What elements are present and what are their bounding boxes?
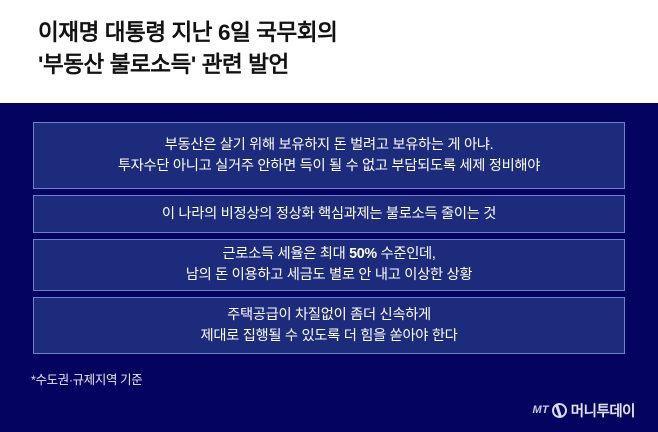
quote-line: 이 나라의 비정상의 정상화 핵심과제는 불로소득 줄이는 것 [162,204,496,225]
infographic-page: 이재명 대통령 지난 6일 국무회의 '부동산 불로소득' 관련 발언 부동산은… [0,0,658,432]
logo-abbreviation: MT [533,404,549,416]
footnote: *수도권·규제지역 기준 [31,370,142,388]
quote-line: 제대로 집행될 수 있도록 더 힘을 쏟아야 한다 [200,326,457,347]
quote-box-4: 주택공급이 차질없이 좀더 신속하게 제대로 집행될 수 있도록 더 힘을 쏟아… [33,297,625,354]
quote-line: 부동산은 살기 위해 보유하지 돈 벌려고 보유하는 게 아냐. [165,135,494,156]
highlight-value: 50% [349,246,377,262]
page-title-line-2: '부동산 불로소득' 관련 발언 [38,49,658,81]
quote-line-highlighted: 근로소득 세율은 최대 50% 수준인데, [222,244,435,265]
quote-line: 주택공급이 차질없이 좀더 신속하게 [227,305,431,326]
moneytoday-logo: MT 머니투데이 [533,400,636,420]
quote-box-1: 부동산은 살기 위해 보유하지 돈 벌려고 보유하는 게 아냐. 투자수단 아니… [33,122,625,189]
moneytoday-circle-icon [550,401,569,420]
logo-wordmark: 머니투데이 [571,400,635,421]
quote-line: 투자수단 아니고 실거주 안하면 득이 될 수 없고 부담되도록 세제 정비해야 [118,156,540,177]
quote-box-3: 근로소득 세율은 최대 50% 수준인데, 남의 돈 이용하고 세금도 별로 안… [33,239,625,291]
header: 이재명 대통령 지난 6일 국무회의 '부동산 불로소득' 관련 발언 [0,0,658,103]
quotes-panel: 부동산은 살기 위해 보유하지 돈 벌려고 보유하는 게 아냐. 투자수단 아니… [0,103,658,432]
page-title-line-1: 이재명 대통령 지난 6일 국무회의 [38,17,658,49]
quote-box-2: 이 나라의 비정상의 정상화 핵심과제는 불로소득 줄이는 것 [33,195,625,233]
quote-line: 남의 돈 이용하고 세금도 별로 안 내고 이상한 상황 [186,265,472,286]
